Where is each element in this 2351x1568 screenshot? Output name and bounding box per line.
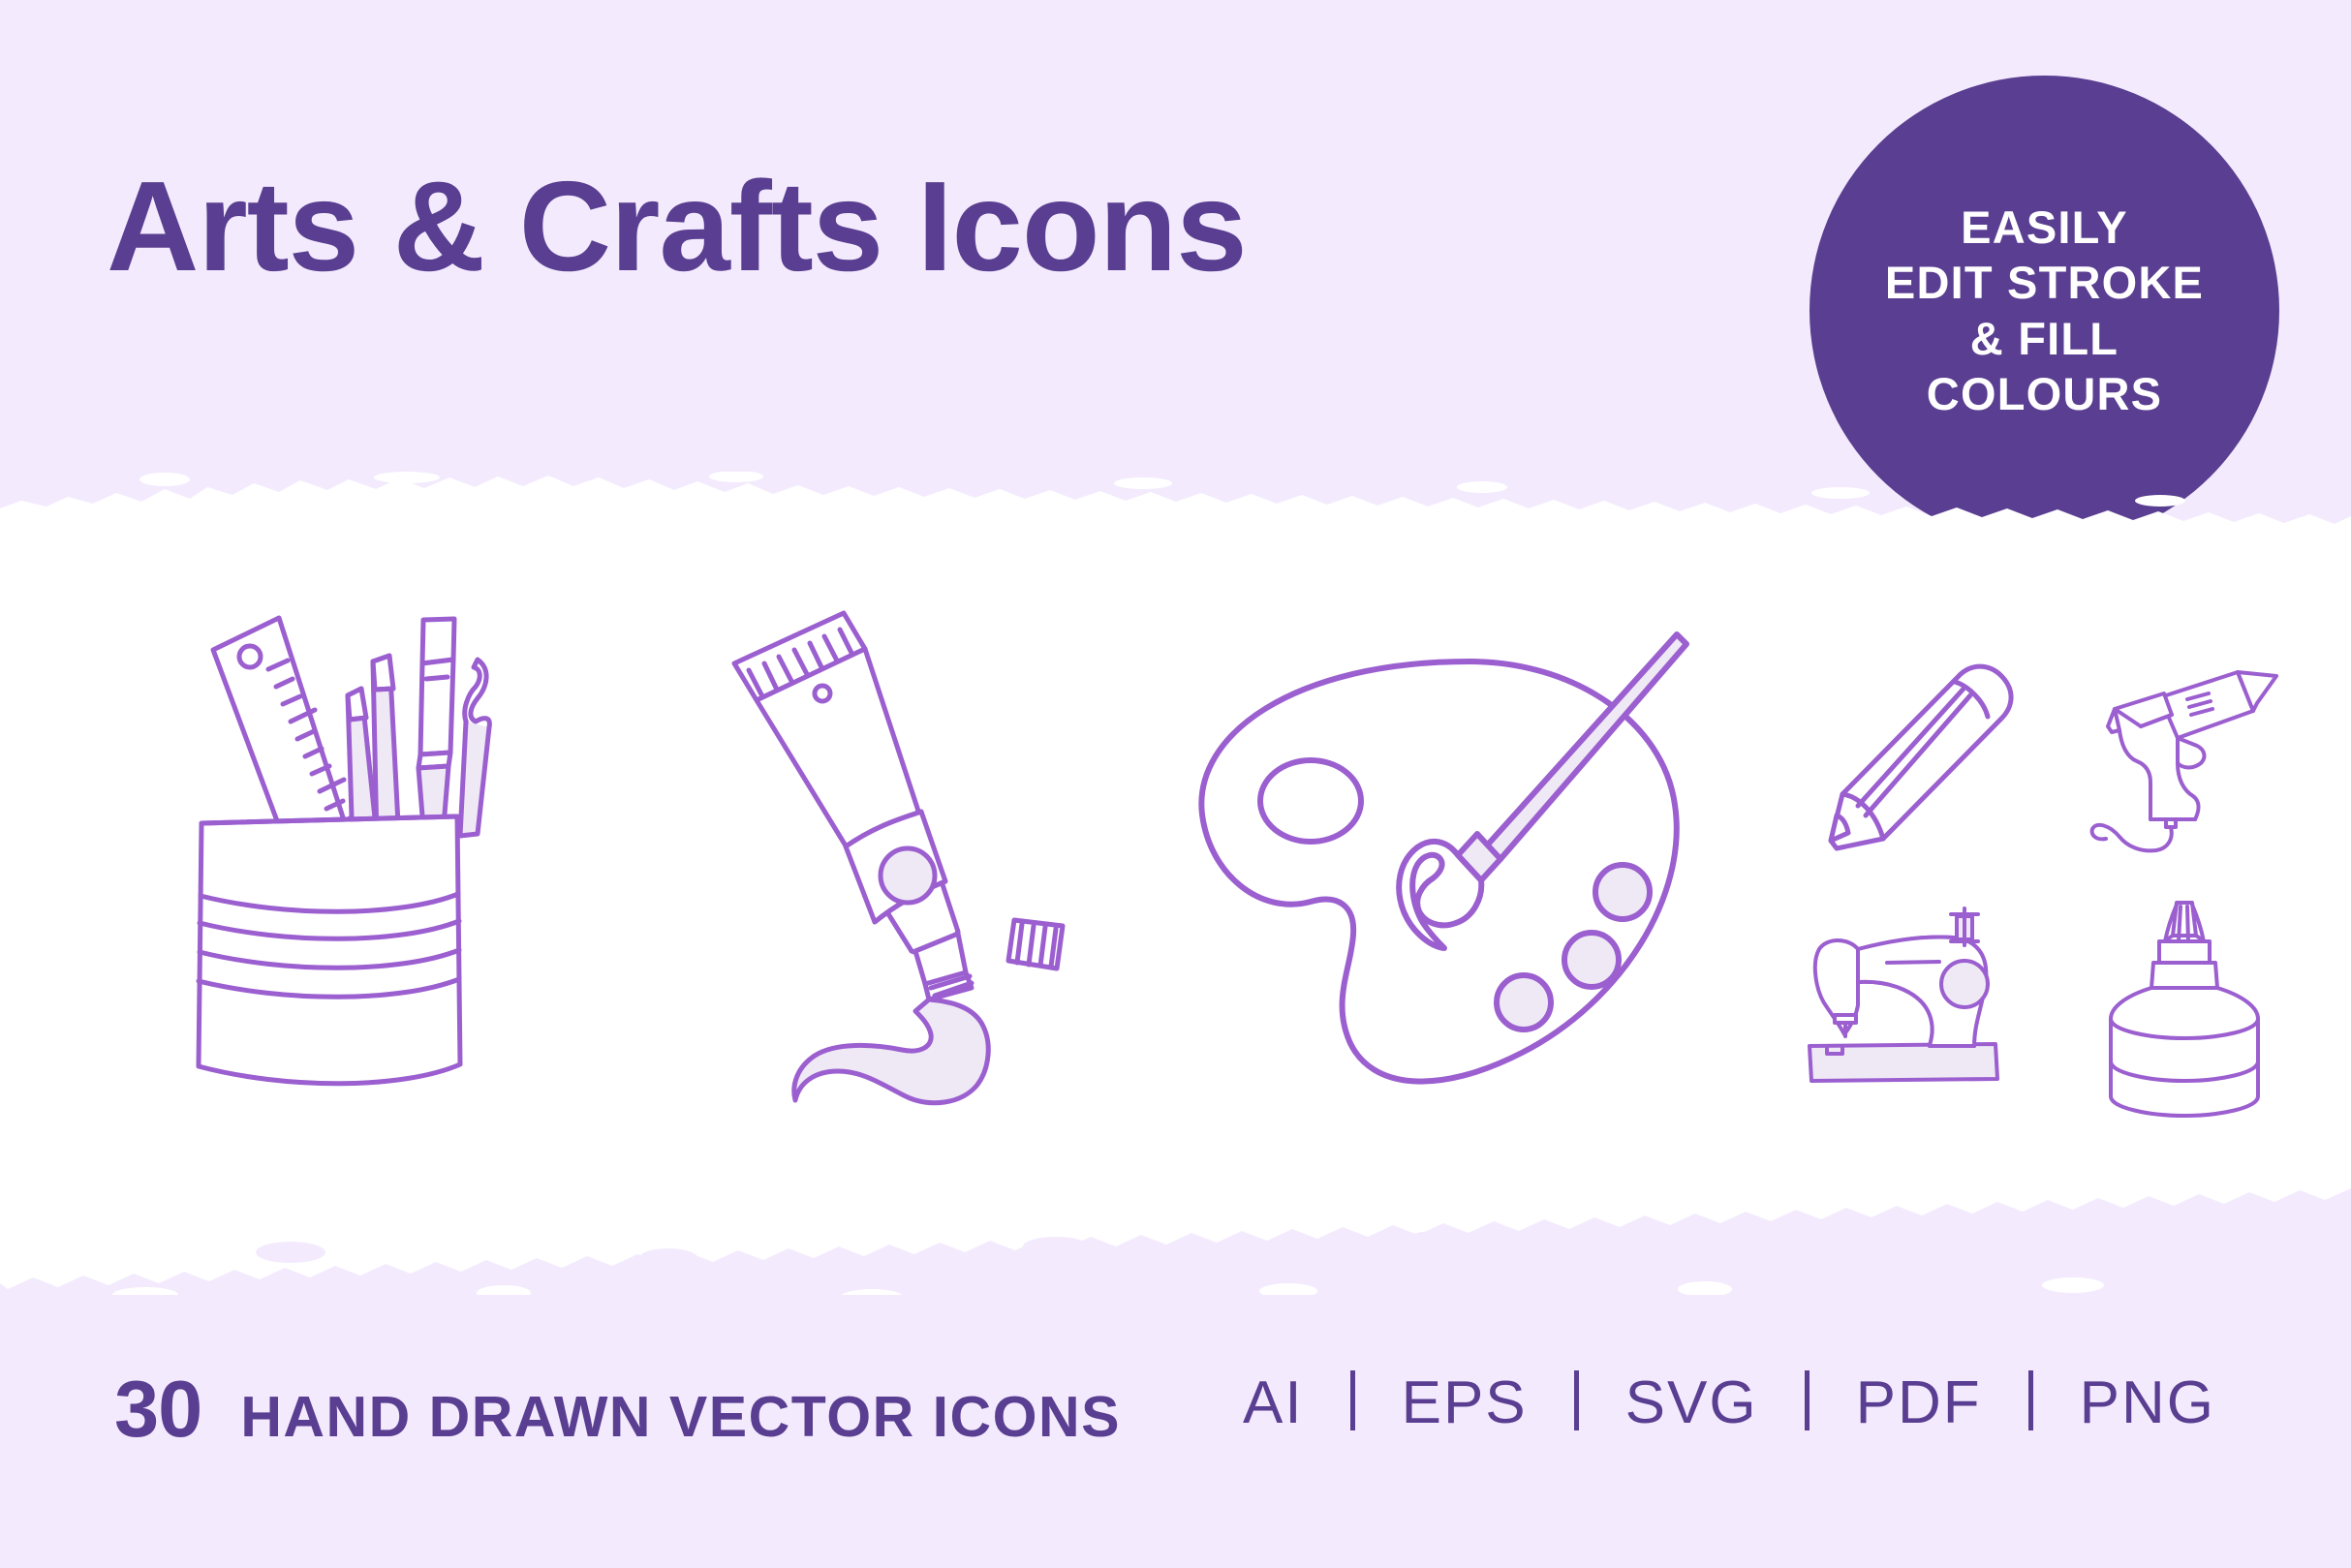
format-separator (1350, 1370, 1355, 1430)
paint-tube-icon (722, 600, 1080, 1123)
icon-count: 30 (114, 1363, 201, 1456)
sewing-machine-icon (1802, 899, 2063, 1102)
format-svg: SVG (1625, 1368, 1758, 1437)
format-separator (1805, 1370, 1810, 1430)
pencil-icon (1804, 651, 2056, 874)
badge-line-1: EASILY (1961, 200, 2128, 255)
icon-count-label: HAND DRAWN VECTOR ICONS (240, 1384, 1121, 1450)
page-title: Arts & Crafts Icons (107, 163, 1247, 291)
format-separator (1574, 1370, 1579, 1430)
footer: 30 HAND DRAWN VECTOR ICONS AI EPS SVG PD… (0, 1303, 2351, 1568)
icon-showcase (0, 542, 2351, 1220)
format-ai: AI (1243, 1368, 1304, 1437)
band-bottom-speckles (112, 1277, 2104, 1295)
glue-gun-icon (2090, 657, 2351, 879)
file-formats-list: AI EPS SVG PDF PNG (1243, 1363, 2215, 1437)
pencil-cup-icon (179, 586, 538, 1148)
format-separator (2028, 1370, 2033, 1430)
badge-line-4: COLOURS (1927, 366, 2162, 421)
glue-bottle-icon (2097, 891, 2351, 1114)
paint-palette-icon (1187, 615, 1710, 1119)
badge-line-2: EDIT STROKE (1885, 255, 2204, 310)
icon-count-block: 30 HAND DRAWN VECTOR ICONS (114, 1363, 1121, 1456)
format-png: PNG (2080, 1368, 2215, 1437)
format-pdf: PDF (1856, 1368, 1982, 1437)
format-eps: EPS (1402, 1368, 1528, 1437)
header: Arts & Crafts Icons EASILY EDIT STROKE &… (0, 0, 2351, 484)
poster-canvas: Arts & Crafts Icons EASILY EDIT STROKE &… (0, 0, 2351, 1568)
badge-line-3: & FILL (1970, 311, 2119, 366)
